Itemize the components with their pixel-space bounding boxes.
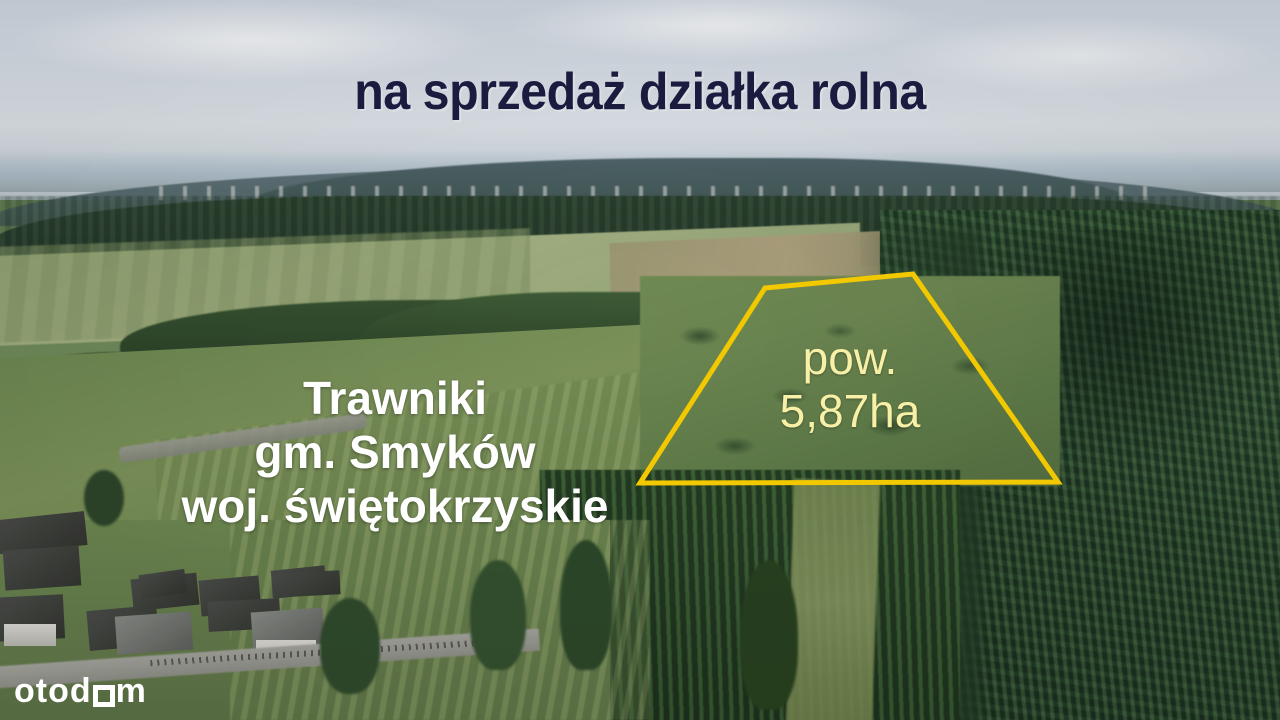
otodom-logo-text-end: m [116,674,147,708]
otodom-logo-square-icon [93,685,115,707]
plot-area-prefix: pow. [700,332,1000,385]
plot-area-value: 5,87ha [700,385,1000,438]
plot-area-label: pow. 5,87ha [700,332,1000,439]
otodom-logo-text-start: otod [14,674,92,708]
otodom-logo[interactable]: otod m [14,674,147,708]
plot-boundary-overlay [0,0,1280,720]
listing-photo-banner: na sprzedaż działka rolna Trawniki gm. S… [0,0,1280,720]
